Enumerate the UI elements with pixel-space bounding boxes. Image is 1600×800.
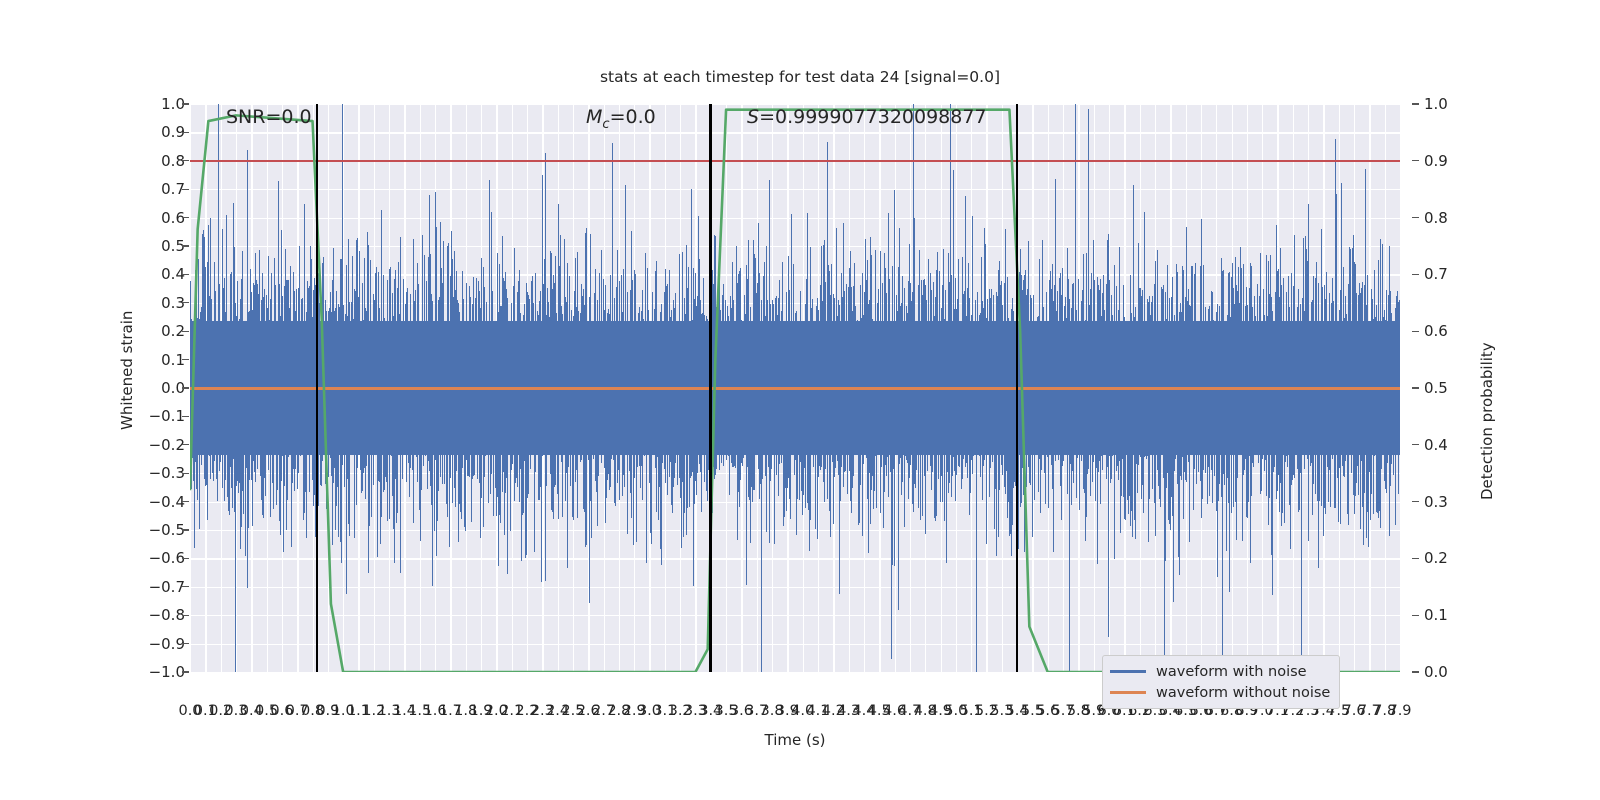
annotation-chirp-mass: Mc=0.0 (586, 106, 656, 132)
y-tick-label-right: 0.5 (1424, 379, 1448, 397)
y-tick-label-left: −0.2 (149, 436, 185, 454)
y-tick-label-right: 0.8 (1424, 209, 1448, 227)
y-tick-mark-left (182, 444, 189, 445)
y-tick-mark-left (182, 103, 189, 104)
legend[interactable]: waveform with noisewaveform without nois… (1102, 655, 1340, 709)
y-tick-label-right: 0.2 (1424, 549, 1448, 567)
y-tick-mark-left (182, 302, 189, 303)
matplotlib-figure: stats at each timestep for test data 24 … (0, 0, 1600, 800)
y-tick-label-left: −0.3 (149, 464, 185, 482)
y-tick-label-left: −0.5 (149, 521, 185, 539)
y-tick-label-left: −0.8 (149, 606, 185, 624)
y-tick-mark-right (1412, 103, 1419, 104)
y-axis-label-right: Detection probability (1478, 342, 1496, 500)
y-tick-mark-left (182, 586, 189, 587)
y-tick-mark-right (1412, 558, 1419, 559)
y-tick-mark-left (182, 274, 189, 275)
y-tick-label-left: −0.9 (149, 635, 185, 653)
y-tick-mark-left (182, 615, 189, 616)
y-tick-mark-left (182, 529, 189, 530)
y-tick-label-left: −0.7 (149, 578, 185, 596)
y-tick-label-right: 1.0 (1424, 95, 1448, 113)
y-tick-mark-right (1412, 501, 1419, 502)
annotation-mc-value: =0.0 (610, 106, 656, 128)
y-tick-mark-left (182, 643, 189, 644)
y-tick-mark-right (1412, 274, 1419, 275)
y-tick-mark-left (182, 671, 189, 672)
detection-window-marker (316, 104, 319, 672)
y-tick-label-right: 0.1 (1424, 606, 1448, 624)
detection-probability-curve (190, 104, 1400, 672)
y-tick-mark-right (1412, 444, 1419, 445)
annotation-snr: SNR=0.0 (226, 106, 312, 128)
y-tick-label-right: 0.7 (1424, 265, 1448, 283)
y-tick-mark-left (182, 416, 189, 417)
y-tick-label-left: −0.4 (149, 493, 185, 511)
annotation-s-symbol: S (747, 106, 759, 128)
annotation-mc-symbol: M (586, 106, 602, 128)
annotation-mc-subscript: c (602, 117, 609, 132)
detection-window-marker (1016, 104, 1019, 672)
y-tick-mark-left (182, 160, 189, 161)
y-tick-mark-right (1412, 615, 1419, 616)
y-tick-label-left: −0.1 (149, 407, 185, 425)
y-tick-mark-left (182, 359, 189, 360)
y-tick-mark-left (182, 331, 189, 332)
y-tick-mark-left (182, 245, 189, 246)
plot-title: stats at each timestep for test data 24 … (0, 68, 1600, 86)
y-tick-mark-right (1412, 217, 1419, 218)
annotation-score: S=0.9999077320098877 (747, 106, 987, 128)
y-tick-label-right: 0.3 (1424, 493, 1448, 511)
y-tick-mark-right (1412, 671, 1419, 672)
legend-color-swatch (1110, 670, 1146, 673)
y-tick-mark-right (1412, 160, 1419, 161)
y-tick-label-right: 0.0 (1424, 663, 1448, 681)
legend-label: waveform without noise (1156, 685, 1330, 701)
y-tick-mark-left (182, 217, 189, 218)
annotation-s-value: =0.9999077320098877 (759, 106, 986, 128)
x-tick-label: 7.9 (1388, 703, 1411, 719)
y-tick-mark-left (182, 387, 189, 388)
y-tick-mark-right (1412, 387, 1419, 388)
y-axis-label-left: Whitened strain (118, 311, 136, 430)
y-tick-label-right: 0.4 (1424, 436, 1448, 454)
y-tick-mark-left (182, 132, 189, 133)
legend-label: waveform with noise (1156, 664, 1307, 680)
y-tick-label-left: −0.6 (149, 549, 185, 567)
legend-color-swatch (1110, 691, 1146, 694)
legend-item[interactable]: waveform with noise (1110, 661, 1330, 682)
y-tick-mark-right (1412, 331, 1419, 332)
detection-window-marker (709, 104, 712, 672)
y-tick-label-right: 0.9 (1424, 152, 1448, 170)
y-tick-mark-left (182, 189, 189, 190)
y-tick-mark-left (182, 473, 189, 474)
y-tick-label-left: −1.0 (149, 663, 185, 681)
y-tick-mark-left (182, 501, 189, 502)
plot-area: SNR=0.0 Mc=0.0 S=0.9999077320098877 (190, 104, 1400, 672)
x-axis-label: Time (s) (190, 731, 1400, 749)
y-tick-label-right: 0.6 (1424, 322, 1448, 340)
y-tick-mark-left (182, 558, 189, 559)
legend-item[interactable]: waveform without noise (1110, 682, 1330, 703)
